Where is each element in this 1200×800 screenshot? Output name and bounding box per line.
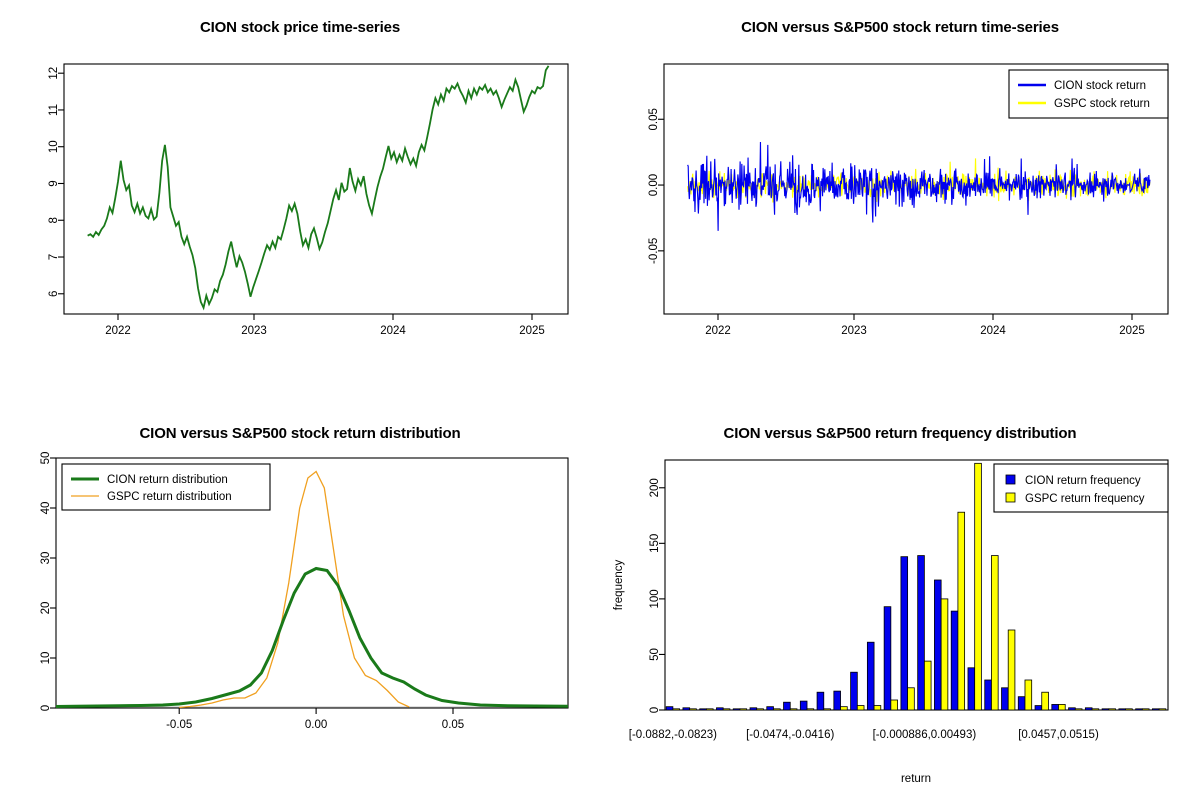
bar-gspc <box>891 700 898 710</box>
price-plot-box <box>64 64 568 314</box>
bar-gspc <box>924 661 931 710</box>
y-tick-label: 20 <box>40 602 52 615</box>
bar-gspc <box>991 556 998 710</box>
legend-frame <box>1009 70 1168 118</box>
x-tick-label: [0.0457,0.0515) <box>1018 729 1099 741</box>
y-tick-label: 50 <box>649 648 661 661</box>
x-tick-label: 2025 <box>1119 325 1145 337</box>
y-tick-label: 8 <box>48 217 60 223</box>
bar-gspc <box>773 709 780 710</box>
x-tick-label: 2024 <box>980 325 1006 337</box>
bar-gspc <box>690 709 697 710</box>
legend-label: GSPC stock return <box>1054 98 1150 110</box>
bar-gspc <box>824 709 831 710</box>
y-tick-label: 200 <box>649 478 661 497</box>
bar-cion <box>700 709 707 710</box>
bar-cion <box>1018 697 1025 710</box>
returns-plot-svg: -0.050.000.052022202320242025 CION stock… <box>600 0 1200 400</box>
y-tick-label: 9 <box>48 180 60 186</box>
panel-price-timeseries: CION stock price time-series 67891011122… <box>0 0 600 400</box>
y-tick-label: 0 <box>40 705 52 711</box>
bar-gspc <box>1008 630 1015 710</box>
y-tick-label: 40 <box>40 502 52 515</box>
bar-cion <box>733 709 740 710</box>
returns-legend[interactable]: CION stock returnGSPC stock return <box>1009 70 1168 118</box>
x-tick-label: -0.05 <box>166 719 192 731</box>
bar-cion <box>1052 704 1059 710</box>
bar-gspc <box>1059 704 1066 710</box>
legend-label: GSPC return frequency <box>1025 493 1145 505</box>
bar-cion <box>1102 709 1109 710</box>
bar-cion <box>867 642 874 710</box>
y-tick-label: 30 <box>40 552 52 565</box>
bar-cion <box>1035 706 1042 710</box>
bar-cion <box>767 707 774 710</box>
bar-gspc <box>1142 709 1149 710</box>
x-tick-label: 2024 <box>380 325 406 337</box>
y-tick-label: 7 <box>48 254 60 260</box>
bar-gspc <box>807 709 814 710</box>
y-tick-label: 150 <box>649 534 661 553</box>
bar-cion <box>834 691 841 710</box>
bar-cion <box>968 668 975 710</box>
x-tick-label: [-0.000886,0.00493) <box>873 729 977 741</box>
legend-label: GSPC return distribution <box>107 491 232 503</box>
bar-gspc <box>941 599 948 710</box>
bar-cion <box>1085 708 1092 710</box>
y-tick-label: 10 <box>48 140 60 153</box>
bar-gspc <box>975 463 982 710</box>
y-tick-label: 100 <box>649 589 661 608</box>
x-tick-label: 0.00 <box>305 719 327 731</box>
legend-swatch-square <box>1006 475 1015 484</box>
bar-cion <box>1069 708 1076 710</box>
frequency-ylabel: frequency <box>613 560 625 611</box>
x-tick-label: 2022 <box>705 325 731 337</box>
x-tick-label: [-0.0882,-0.0823) <box>629 729 717 741</box>
x-tick-label: 0.05 <box>442 719 464 731</box>
figure-canvas: CION stock price time-series 67891011122… <box>0 0 1200 800</box>
x-tick-label: [-0.0474,-0.0416) <box>746 729 834 741</box>
bar-cion <box>1002 688 1009 710</box>
y-tick-label: 50 <box>40 452 52 465</box>
bar-cion <box>683 708 690 710</box>
bar-gspc <box>1075 709 1082 710</box>
y-tick-label: 0.05 <box>648 108 660 130</box>
y-tick-label: 12 <box>48 67 60 80</box>
bar-gspc <box>790 709 797 710</box>
bar-cion <box>716 708 723 710</box>
y-tick-label: 0 <box>649 707 661 713</box>
y-tick-label: 6 <box>48 291 60 297</box>
bar-cion <box>1152 709 1159 710</box>
bar-cion <box>918 556 925 710</box>
bar-cion <box>750 708 757 710</box>
bar-cion <box>985 680 992 710</box>
bar-cion <box>901 557 908 710</box>
bar-cion <box>951 611 958 710</box>
bar-gspc <box>1126 709 1133 710</box>
density-legend[interactable]: CION return distributionGSPC return dist… <box>62 464 270 510</box>
bar-cion <box>884 607 891 710</box>
bar-cion <box>851 672 858 710</box>
bar-gspc <box>1092 709 1099 710</box>
y-tick-label: 0.00 <box>648 174 660 196</box>
x-tick-label: 2025 <box>519 325 545 337</box>
bar-gspc <box>908 688 915 710</box>
y-tick-label: -0.05 <box>648 238 660 264</box>
bar-gspc <box>841 707 848 710</box>
x-tick-label: 2022 <box>105 325 131 337</box>
bar-cion <box>1136 709 1143 710</box>
price-line-cion <box>88 66 549 308</box>
bar-cion <box>800 701 807 710</box>
bar-gspc <box>740 709 747 710</box>
legend-frame <box>62 464 270 510</box>
bar-cion <box>817 692 824 710</box>
bar-gspc <box>1109 709 1116 710</box>
bar-gspc <box>958 512 965 710</box>
bar-gspc <box>1025 680 1032 710</box>
bar-gspc <box>706 709 713 710</box>
y-tick-label: 10 <box>40 652 52 665</box>
x-tick-label: 2023 <box>841 325 867 337</box>
bar-gspc <box>1042 692 1049 710</box>
bar-gspc <box>757 709 764 710</box>
bar-cion <box>1119 709 1126 710</box>
bar-gspc <box>723 709 730 710</box>
density-plot-svg: 01020304050-0.050.000.05 CION return dis… <box>0 400 600 800</box>
density-line-cion <box>56 569 568 707</box>
bar-gspc <box>1159 709 1166 710</box>
panel-return-distribution: CION versus S&P500 stock return distribu… <box>0 400 600 800</box>
panel-return-timeseries: CION versus S&P500 stock return time-ser… <box>600 0 1200 400</box>
price-plot-svg: 67891011122022202320242025 <box>0 0 600 400</box>
legend-swatch-square <box>1006 493 1015 502</box>
y-tick-label: 11 <box>48 104 60 116</box>
bar-gspc <box>857 706 864 710</box>
frequency-legend[interactable]: CION return frequencyGSPC return frequen… <box>994 464 1168 512</box>
legend-label: CION stock return <box>1054 80 1146 92</box>
panel-return-frequency: CION versus S&P500 return frequency dist… <box>600 400 1200 800</box>
bar-cion <box>934 580 941 710</box>
bar-cion <box>784 702 791 710</box>
legend-label: CION return frequency <box>1025 475 1141 487</box>
frequency-xlabel: return <box>901 773 931 785</box>
bar-cion <box>666 707 673 710</box>
legend-label: CION return distribution <box>107 474 228 486</box>
bar-gspc <box>673 709 680 710</box>
bar-gspc <box>874 706 881 710</box>
frequency-plot-svg: 050100150200[-0.0882,-0.0823)[-0.0474,-0… <box>600 400 1200 800</box>
x-tick-label: 2023 <box>241 325 267 337</box>
